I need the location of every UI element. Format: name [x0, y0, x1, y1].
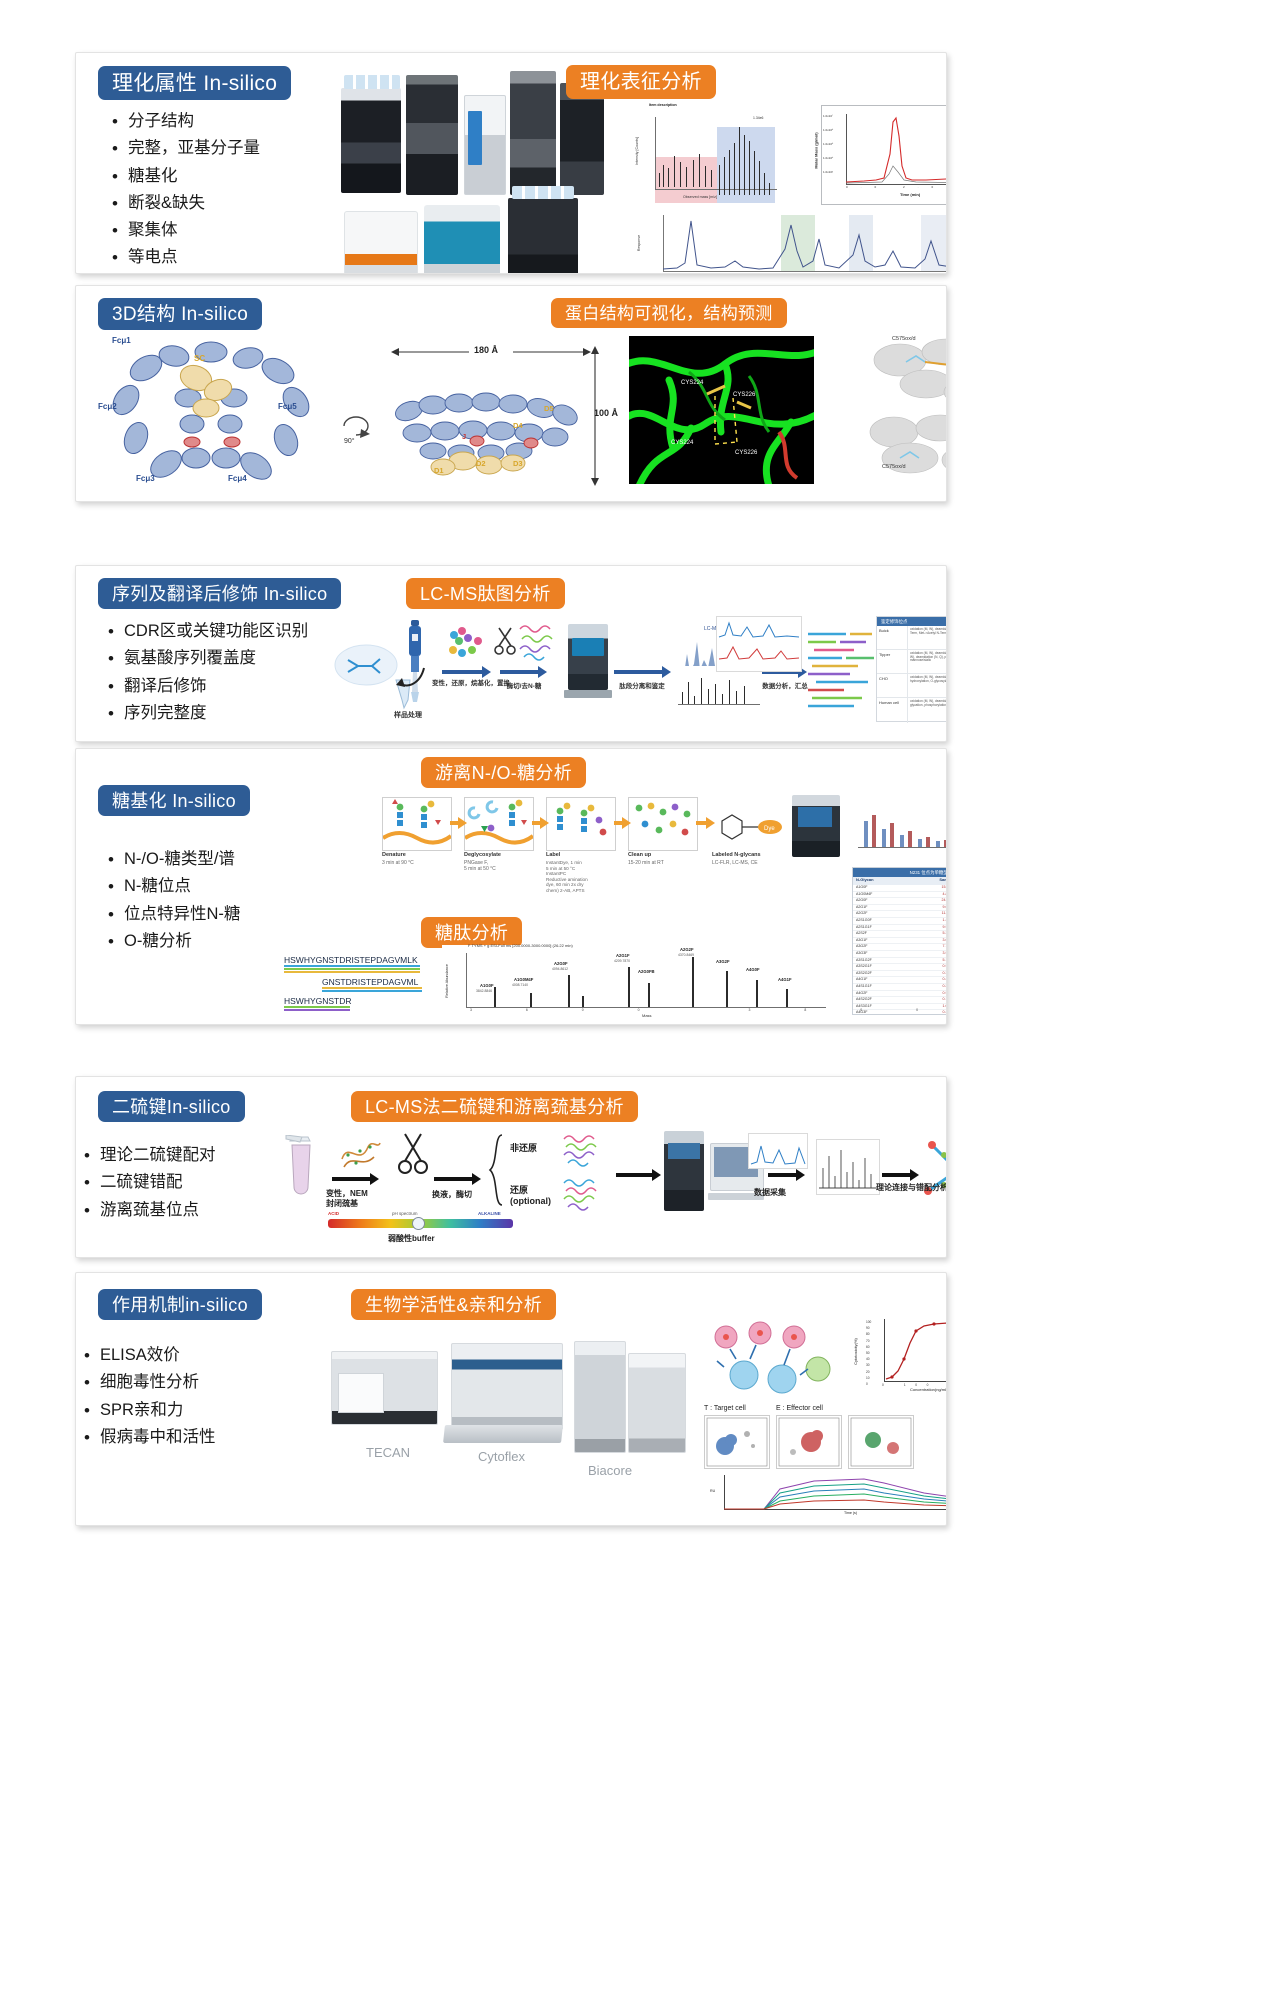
glycan-cell-name: A2G0F — [853, 898, 926, 904]
dose-trace — [884, 1319, 947, 1382]
ms-peak — [659, 173, 660, 187]
bullet-text: 假病毒中和活性 — [100, 1427, 216, 1448]
pill-physchem-blue: 理化属性 In-silico — [98, 66, 291, 100]
instrument-photo-teal-bottom — [424, 205, 500, 274]
lcms-instrument-base — [564, 690, 612, 698]
ms-region-high — [717, 127, 775, 203]
pill-glyco-orange-label: 游离N-/O-糖分析 — [435, 764, 572, 782]
card-disulfide: 二硫键In-silico LC-MS法二硫键和游离巯基分析 •理论二硫键配对 •… — [75, 1076, 947, 1258]
ph-gradient-marker — [412, 1217, 425, 1230]
glyco-arrow-1 — [450, 817, 466, 829]
glycan-cell-name: A1G0M4F — [853, 892, 926, 898]
disulfide-map-icon — [912, 1129, 947, 1213]
card-glycosylation: 糖基化 In-silico 游离N-/O-糖分析 糖肽分析 •N-/O-糖类型/… — [75, 748, 947, 1025]
bullet-dot: • — [112, 111, 128, 132]
ms-peak — [693, 160, 694, 187]
peptide-mix-icon-top — [562, 1131, 610, 1171]
list-item: •糖基化 — [112, 166, 342, 187]
label-instr-biacore: Biacore — [588, 1463, 632, 1478]
label-rotation: 90° — [344, 438, 355, 445]
ms-peak — [764, 173, 765, 195]
ms-peak — [734, 143, 735, 195]
glycan-table-header-row: N-Glycan Sample1 Sample2 — [853, 877, 947, 885]
peptide-sequence-2-text: GNSTDRISTEPDAGVML — [322, 977, 418, 987]
scissors-icon-disulfide — [398, 1131, 428, 1175]
glycan-col-name: N-Glycan — [853, 877, 926, 885]
disulfide-arrow-3 — [616, 1169, 660, 1181]
label-wf-deglyco-sub: PNGase F, 5 min at 50 °C — [464, 860, 496, 872]
label-step1: 变性，还原，烷基化，置换 — [432, 680, 494, 688]
bullet-text: O-糖分析 — [124, 931, 192, 952]
labeled-glycan-dye-icon: Dye — [716, 799, 786, 851]
table-row: A2G1F9.60%13.45% — [853, 905, 947, 912]
glycan-cell-name: A3S1G2F — [853, 958, 926, 964]
glyco-arrow-2 — [532, 817, 548, 829]
instrument-photo-ms-top — [406, 75, 458, 195]
list-item: •CDR区或关键功能区识别 — [108, 621, 398, 642]
peptide-sequence-1: HSWHYGNSTDRISTEPDAGVMLK — [284, 955, 418, 965]
label-d5: D5 — [544, 404, 554, 413]
table-row: A3S2G2F0.30%0.42% — [853, 971, 947, 978]
cryoem-panel-top: C575ox/d C14' — [866, 334, 947, 406]
bullet-dot: • — [84, 1400, 100, 1421]
list-item: •分子结构 — [112, 111, 342, 132]
pill-disulfide-blue-label: 二硫键In-silico — [112, 1098, 231, 1116]
bullet-text: 游离巯基位点 — [100, 1200, 199, 1221]
modification-table: 鉴定修饰位点 Buick oxidation (M, W), deamidati… — [876, 616, 947, 722]
glycopep-peak — [786, 989, 788, 1007]
ms-peak — [680, 162, 681, 187]
glycan-cell-name: A2S2F — [853, 931, 926, 937]
bullet-text: 等电点 — [128, 247, 178, 268]
table-row: A3G2F7.78%3.25% — [853, 944, 947, 951]
glycan-bar — [864, 821, 868, 847]
glycan-cell-sample1: 1.46% — [926, 918, 947, 924]
pill-physchem-orange: 理化表征分析 — [566, 65, 716, 99]
label-disulfide-step2: 换液，酶切 — [432, 1189, 472, 1200]
chart-dose-xlabel: Concentration(ng/mL) — [910, 1387, 947, 1392]
cryoem-panel-bottom: C575ox/d C575red/d — [866, 408, 947, 480]
peptide-sequence-3: HSWHYGNSTDR — [284, 996, 352, 1006]
chart-native-ms-annotation: 1.34e6 — [753, 116, 763, 120]
label-ph-mid: pH spectrum — [392, 1211, 418, 1216]
glycan-bar — [900, 835, 904, 847]
label-sample-prep: 样品处理 — [394, 710, 422, 720]
label-adcc-e: E : Effector cell — [776, 1405, 823, 1412]
glycan-cell-name: A3S2G1F — [853, 964, 926, 970]
glycan-cell-sample1: 5.13% — [926, 958, 947, 964]
disulfide-arrow-1 — [332, 1173, 378, 1185]
spr-traces — [724, 1475, 947, 1510]
pill-sequence-blue-label: 序列及翻译后修饰 In-silico — [112, 585, 327, 603]
chart-dose-yticks: 1009080706050403020100 — [866, 1319, 871, 1387]
label-ph-buffer: 弱酸性buffer — [388, 1233, 435, 1244]
label-d4: D4 — [513, 421, 523, 430]
label-fcu5: Fcμ5 — [278, 402, 297, 411]
pill-glyco-blue: 糖基化 In-silico — [98, 785, 250, 816]
glycan-cell-name: A4S1G1F — [853, 984, 926, 990]
brace-icon — [488, 1133, 506, 1207]
table-cell-note: oxidation (M, W), deamidation (N, Q), hy… — [908, 650, 947, 673]
bullet-dot: • — [84, 1172, 100, 1193]
label-c575-ox: C575ox/d — [892, 336, 916, 342]
svg-text:Dye: Dye — [764, 826, 775, 832]
curved-arrow-icon — [394, 666, 428, 696]
table-row: A2S2F5.31%3.86% — [853, 931, 947, 938]
label-instr-tecan: TECAN — [366, 1445, 410, 1460]
workflow-box-cleanup — [628, 797, 698, 851]
bullet-text: 分子结构 — [128, 111, 194, 132]
list-item: •O-糖分析 — [108, 931, 388, 952]
card-sequence: 序列及翻译后修饰 In-silico LC-MS肽图分析 •CDR区或关键功能区… — [75, 565, 947, 742]
bullet-dot: • — [108, 676, 124, 697]
table-row: A4S2G2F0.13%0.33% — [853, 997, 947, 1004]
table-row: A3S1G2F5.13%7.90% — [853, 958, 947, 965]
chart-native-ms-xlabel: Observed mass [m/z] — [683, 195, 717, 199]
bullet-dot: • — [84, 1372, 100, 1393]
igm-side-view-ribbon — [391, 381, 586, 481]
list-item: •N-/O-糖类型/谱 — [108, 849, 388, 870]
ms-y-axis — [655, 117, 656, 189]
list-item: •游离巯基位点 — [84, 1200, 314, 1221]
label-wf-denature-title: Denature — [382, 852, 406, 858]
table-cell-source: Buick — [877, 626, 908, 649]
label-cys-d: CYS226 — [735, 450, 757, 456]
label-ph-alkaline: ALKALINE — [478, 1211, 501, 1216]
pill-structure3d-blue-label: 3D结构 In-silico — [112, 305, 248, 324]
glycopep-peak — [628, 967, 630, 1007]
glycan-col-s1: Sample1 — [926, 877, 947, 885]
chart-sec-mals: Molar Mass (g/mol) Time (min) 1.0x10⁷ 1.… — [821, 105, 947, 205]
lcms-instrument-icon — [568, 624, 608, 690]
ms-bar — [722, 694, 723, 704]
igm-pentamer-ribbon — [96, 338, 326, 493]
label-c575-left: C575ox/d — [882, 464, 906, 470]
table-row: A1G0F15.67%6.52% — [853, 885, 947, 892]
bullet-list-moa: •ELISA效价 •细胞毒性分析 •SPR亲和力 •假病毒中和活性 — [84, 1345, 314, 1454]
list-item: •序列完整度 — [108, 703, 398, 724]
glycopep-y-axis — [466, 953, 467, 1007]
table-cell-note: oxidation (M, W), deamidation (N, Q), Pr… — [908, 674, 947, 697]
glycan-cell-sample1: 9.60% — [926, 905, 947, 911]
ms-peak — [674, 156, 675, 187]
pill-sequence-orange-label: LC-MS肽图分析 — [420, 585, 551, 603]
glycopep-peak-mass: 4209.7870 — [614, 959, 630, 963]
glycan-bar — [872, 815, 876, 847]
chart-native-ms-title: Item description — [649, 103, 677, 107]
pill-glyco-blue-label: 糖基化 In-silico — [112, 792, 236, 810]
glycopep-peak-label: A3G2F — [716, 959, 730, 964]
bullet-dot: • — [112, 193, 128, 214]
glycan-bar — [926, 837, 930, 847]
ms-bar — [688, 682, 689, 704]
bullet-dot: • — [108, 876, 124, 897]
workflow-box-denature — [382, 797, 452, 851]
ms-peak — [749, 141, 750, 195]
instrument-photo-cytoflex — [451, 1343, 563, 1430]
pill-sequence-orange: LC-MS肽图分析 — [406, 578, 565, 609]
label-fcu4: Fcμ4 — [228, 474, 247, 483]
workflow-arrow-2 — [500, 666, 546, 678]
bullet-list-glyco: •N-/O-糖类型/谱 •N-糖位点 •位点特异性N-糖 •O-糖分析 — [108, 849, 388, 958]
glycan-cell-name: A2S1G1F — [853, 925, 926, 931]
label-nonreduced: 非还原 — [510, 1141, 537, 1154]
table-row: A2G2F11.36%14.98% — [853, 911, 947, 918]
glycopep-peak-label: A1G0F — [480, 983, 494, 988]
pill-moa-blue: 作用机制in-silico — [98, 1289, 262, 1320]
table-row: CHO oxidation (M, W), deamidation (N, Q)… — [877, 674, 947, 698]
chart-glycopeptide-xlabel: Mass — [642, 1013, 652, 1018]
coverage-map-icon — [806, 628, 876, 708]
bullet-dot: • — [108, 703, 124, 724]
cief-trace — [663, 215, 947, 272]
chart-glycopeptide-title: F TYMS + g ESI-Full ms [200.0000-3000.00… — [468, 943, 573, 948]
label-cys-a: CYS224 — [681, 380, 703, 386]
table-row: A1G0M4F4.88%7.14% — [853, 892, 947, 899]
list-item: •聚集体 — [112, 220, 342, 241]
bullet-text: CDR区或关键功能区识别 — [124, 621, 308, 642]
glycopep-peak-label: A2G0FB — [638, 969, 655, 974]
glycopep-peak-label: A1G0M4F — [514, 977, 533, 982]
pill-physchem-blue-label: 理化属性 In-silico — [112, 73, 277, 94]
chart-spr-xlabel: Time (s) — [844, 1511, 857, 1515]
list-item: •完整，亚基分子量 — [112, 138, 342, 159]
glycan-cell-name: A2G1F — [853, 905, 926, 911]
glycan-cell-sample1: 15.67% — [926, 885, 947, 891]
ms-peak — [729, 150, 730, 195]
pill-structure3d-orange: 蛋白结构可视化，结构预测 — [551, 298, 787, 328]
workflow-arrow-3 — [614, 666, 670, 678]
chart-glycopeptide-xticks: 3600 3800 4000 4200 4400 4600 — [470, 1008, 947, 1012]
flow-plot-2 — [776, 1415, 842, 1469]
ms-peak — [699, 154, 700, 187]
label-height-dim: 100 Å — [594, 408, 618, 418]
table-row: A2S1G0F1.46%2.04% — [853, 918, 947, 925]
label-wf-label-sub: InstantDye, 1 min 5 min at 50 °C Instant… — [546, 860, 588, 893]
chart-spr-ylabel: RU — [710, 1489, 715, 1493]
glycopep-peak-label: A4G1F — [778, 977, 792, 982]
glycopep-peak — [530, 993, 532, 1007]
card-physchem: 理化属性 In-silico •分子结构 •完整，亚基分子量 •糖基化 •断裂&… — [75, 52, 947, 274]
table-row: Buick oxidation (M, W), deamidation (N, … — [877, 626, 947, 650]
list-item: •等电点 — [112, 247, 342, 268]
glycan-cell-sample1: 0.22% — [926, 984, 947, 990]
label-reduced: 还原 (optional) — [510, 1185, 551, 1207]
label-step3: 肽段分离和鉴定 — [610, 680, 674, 690]
chart-ms-peptide-bars — [674, 666, 762, 714]
label-d2: D2 — [476, 459, 486, 468]
table-cell-source: CHO — [877, 674, 908, 697]
result-spectra-panel — [716, 616, 802, 672]
glycopep-peak-label: A2G2F — [680, 947, 694, 952]
instrument-photo-white-bottom — [344, 211, 418, 274]
glycan-cell-sample1: 11.36% — [926, 911, 947, 917]
bullet-text: 聚集体 — [128, 220, 178, 241]
glycan-bar — [944, 840, 947, 847]
bullet-text: N-糖位点 — [124, 876, 191, 897]
bullet-text: 糖基化 — [128, 166, 178, 187]
tangled-protein-icon — [338, 1135, 382, 1173]
bullet-text: N-/O-糖类型/谱 — [124, 849, 235, 870]
pill-structure3d-orange-label: 蛋白结构可视化，结构预测 — [565, 305, 773, 322]
bullet-dot: • — [84, 1427, 100, 1448]
modification-table-header-label: 鉴定修饰位点 — [881, 619, 907, 625]
glycopep-peak-mass: 4370.8469 — [678, 953, 694, 957]
glycan-cell-name: A4G1F — [853, 977, 926, 983]
table-row: Human cell oxidation (M, W), deamidation… — [877, 698, 947, 723]
glycan-cell-name: A3S2G2F — [853, 971, 926, 977]
list-item: •位点特异性N-糖 — [108, 904, 388, 925]
ms-peak — [759, 161, 760, 195]
modification-table-header: 鉴定修饰位点 — [877, 617, 947, 626]
bullet-dot: • — [112, 220, 128, 241]
label-fcu3: Fcμ3 — [136, 474, 155, 483]
glycan-cell-sample1: 7.78% — [926, 944, 947, 950]
bullet-text: 完整，亚基分子量 — [128, 138, 260, 159]
glycopep-peak-label: A2G0F — [554, 961, 568, 966]
glycopep-peak — [756, 980, 758, 1007]
chart-cief-ylabel: Response — [637, 235, 641, 251]
table-row: A4G2F0.92%0.58% — [853, 991, 947, 998]
instrument-photo-blue-accent — [468, 111, 482, 165]
table-row: Tipper oxidation (M, W), deamidation (N,… — [877, 650, 947, 674]
ms-bar — [729, 680, 730, 704]
chart-native-ms-ylabel: Intensity [Counts] — [635, 137, 639, 165]
label-wf-denature-sub: 3 min at 90 °C — [382, 860, 414, 866]
bottle-rack-top — [344, 75, 400, 89]
coverage-underline-1b — [284, 968, 420, 970]
bullet-dot: • — [108, 904, 124, 925]
flow-plot-3 — [848, 1415, 914, 1469]
coverage-underline-1c — [284, 971, 420, 973]
ms-peak — [744, 135, 745, 195]
chart-sec-xlabel: Time (min) — [900, 192, 920, 197]
bullet-text: 序列完整度 — [124, 703, 207, 724]
bullet-list-physchem: •分子结构 •完整，亚基分子量 •糖基化 •断裂&缺失 •聚集体 •等电点 — [112, 111, 342, 274]
ms-peak — [754, 151, 755, 195]
bullet-text: 断裂&缺失 — [128, 193, 205, 214]
glycan-cell-sample1: 0.92% — [926, 991, 947, 997]
ms-bar — [701, 678, 702, 704]
workflow-box-label — [546, 797, 616, 851]
adcc-schematic-icon — [704, 1321, 844, 1399]
table-cell-note: oxidation (M, W), deamidation (N, Q), hy… — [908, 698, 947, 723]
glycan-bar — [882, 829, 886, 847]
label-wf-labeled-title: Labeled N-glycans — [712, 852, 761, 858]
chart-glycopeptide-ylabel: Relative Abundance — [445, 964, 449, 998]
chart-dose-ylabel: Cytotoxicity(%) — [853, 1338, 858, 1365]
glycan-bar — [918, 839, 922, 847]
peptide-sequence-1-text: HSWHYGNSTDRISTEPDAGVMLK — [284, 955, 418, 965]
table-row: A3S2G1F0.92%0.60% — [853, 964, 947, 971]
lcms-instrument-screen — [572, 638, 604, 656]
bottle-rack-bottom — [512, 186, 574, 199]
instrument-photo-tower-top — [510, 71, 556, 195]
bullet-dot: • — [112, 247, 128, 268]
pill-moa-orange-label: 生物学活性&亲和分析 — [365, 1296, 542, 1314]
label-wf-cleanup-title: Clean up — [628, 852, 651, 858]
chart-sec-xticks: 0.0 2.0 4.0 6.0 8.0 — [846, 185, 947, 189]
bullet-dot: • — [108, 621, 124, 642]
scissors-icon — [494, 626, 516, 656]
ms-peak — [711, 170, 712, 187]
label-connect-analysis: 理论连接与错配分析 — [876, 1183, 928, 1193]
pill-physchem-orange-label: 理化表征分析 — [580, 72, 702, 92]
peptide-squiggle-icon — [518, 621, 566, 661]
peptide-sequence-3-text: HSWHYGNSTDR — [284, 996, 352, 1006]
glycan-cell-name: A2G2F — [853, 911, 926, 917]
bullet-text: 二硫键错配 — [100, 1172, 183, 1193]
chart-sec-ytick: 1.0x10⁴ — [823, 156, 833, 160]
list-item: •二硫键错配 — [84, 1172, 314, 1193]
list-item: •断裂&缺失 — [112, 193, 342, 214]
glycan-cell-sample1: 3.93% — [926, 951, 947, 957]
glycan-table-title: N231 位点为单糖型位点 — [853, 868, 947, 877]
glycan-cell-name: A2S1G0F — [853, 918, 926, 924]
glycan-cell-name: A3G1F — [853, 938, 926, 944]
ms-bar — [744, 686, 745, 704]
glycan-table-body: A1G0F15.67%6.52%A1G0M4F4.88%7.14%A2G0F24… — [853, 885, 947, 1015]
disulfide-arrow-2 — [434, 1173, 480, 1185]
coverage-underline-3 — [284, 1006, 350, 1008]
chart-dose-xticks: 0 100 200 300 400 500 600 700 — [882, 1383, 947, 1387]
bullet-text: 位点特异性N-糖 — [124, 904, 240, 925]
ms-peak — [686, 167, 687, 187]
table-cell-source: Human cell — [877, 698, 908, 723]
list-item: •ELISA效价 — [84, 1345, 314, 1366]
table-row: A4G1F0.44%0.22% — [853, 977, 947, 984]
glycan-cell-sample1: 0.92% — [926, 964, 947, 970]
glycan-cell-sample1: 9.92% — [926, 925, 947, 931]
ms-bar — [736, 691, 737, 704]
label-ph-acid: ACID — [328, 1211, 339, 1216]
ms-bar — [715, 684, 716, 704]
glycan-cell-sample1: 0.30% — [926, 971, 947, 977]
glycan-cell-sample1: 0.13% — [926, 997, 947, 1003]
chart-dose-response: Cytotoxicity(%) Concentration(ng/mL) 100… — [858, 1315, 947, 1397]
pill-glycopeptide-orange-label: 糖肽分析 — [435, 924, 508, 942]
chart-glycan-profile — [852, 795, 947, 861]
chart-sec-ylabel: Molar Mass (g/mol) — [814, 132, 819, 168]
label-step2: 酶切/去N-糖 — [496, 680, 552, 690]
glyco-arrow-3 — [614, 817, 630, 829]
label-d3: D3 — [513, 459, 523, 468]
label-fcu2: Fcμ2 — [98, 402, 117, 411]
glycan-cell-sample1: 3.60% — [926, 938, 947, 944]
glycopep-peak-label: A4G0F — [746, 967, 760, 972]
bullet-text: SPR亲和力 — [100, 1400, 183, 1421]
workflow-box-deglyco — [464, 797, 534, 851]
ms-bars-x-axis — [678, 704, 760, 705]
instrument-photo-tecan-panel — [338, 1373, 384, 1413]
pymol-render-image: CYS224 CYS226 CYS224 CYS226 — [629, 336, 814, 484]
label-wf-label-title: Label — [546, 852, 560, 858]
pill-disulfide-orange: LC-MS法二硫键和游离巯基分析 — [351, 1091, 638, 1122]
glycopep-peak — [692, 957, 694, 1007]
label-cys-c: CYS224 — [671, 440, 693, 446]
instrument-photo-dark-bottom — [508, 198, 578, 274]
list-item: •细胞毒性分析 — [84, 1372, 314, 1393]
list-item: •N-糖位点 — [108, 876, 388, 897]
disulfide-arrow-4 — [768, 1169, 804, 1181]
label-width-dim: 180 Å — [474, 345, 498, 355]
peptide-sequence-2: GNSTDRISTEPDAGVML — [322, 977, 418, 987]
chart-glycopeptide-ms: F TYMS + g ESI-Full ms [200.0000-3000.00… — [442, 945, 842, 1019]
ms-bar — [694, 696, 695, 704]
molecule-oval-icon — [334, 644, 398, 686]
instrument-photo-lc-top — [341, 88, 401, 193]
disulfide-data-panel — [748, 1133, 808, 1169]
